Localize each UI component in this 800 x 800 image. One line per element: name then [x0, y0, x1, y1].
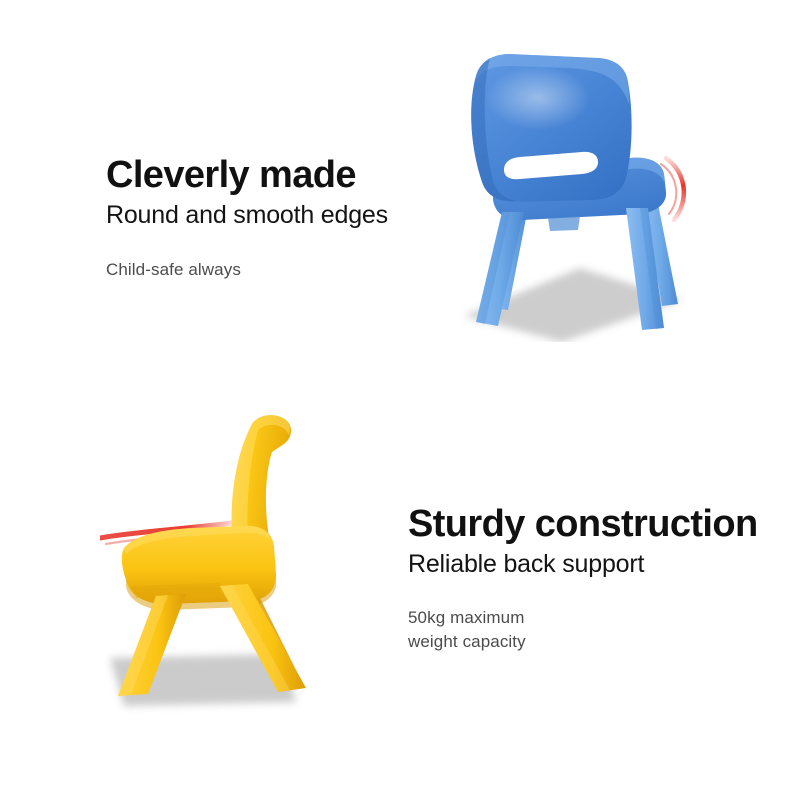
chair-backrest — [471, 54, 631, 202]
feature-body-line: 50kg maximum — [408, 606, 758, 631]
feature-subhead: Round and smooth edges — [106, 201, 388, 230]
feature-panel: Cleverly made Round and smooth edges Chi… — [0, 0, 800, 800]
feature-text-sturdy-construction: Sturdy construction Reliable back suppor… — [408, 505, 758, 655]
feature-headline: Sturdy construction — [408, 505, 758, 543]
feature-headline: Cleverly made — [106, 156, 388, 194]
feature-text-cleverly-made: Cleverly made Round and smooth edges Chi… — [106, 156, 388, 282]
feature-body-line: weight capacity — [408, 630, 758, 655]
feature-body: 50kg maximum weight capacity — [408, 606, 758, 655]
feature-body: Child-safe always — [106, 258, 388, 283]
yellow-chair-illustration — [100, 410, 360, 720]
feature-body-line: Child-safe always — [106, 258, 388, 283]
blue-chair-illustration — [430, 42, 720, 342]
feature-subhead: Reliable back support — [408, 550, 758, 579]
